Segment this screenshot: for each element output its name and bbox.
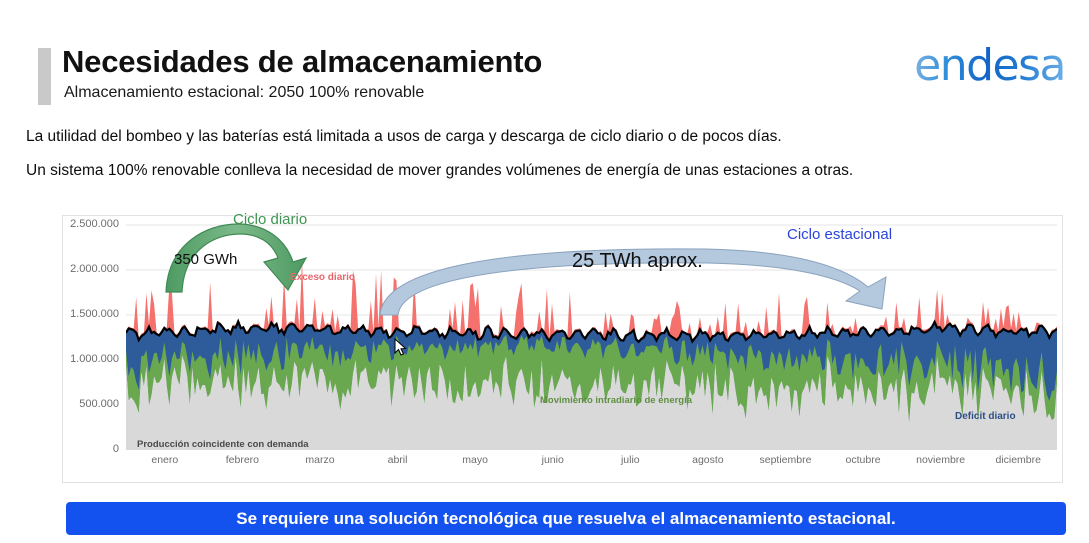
page-title: Necesidades de almacenamiento bbox=[62, 44, 542, 80]
footer-banner: Se requiere una solución tecnológica que… bbox=[66, 502, 1066, 535]
annotation-25-twh: 25 TWh aprox. bbox=[572, 250, 703, 273]
x-axis-tick: abril bbox=[388, 454, 408, 466]
annotation-ciclo-estacional: Ciclo estacional bbox=[787, 226, 892, 243]
x-axis-tick: agosto bbox=[692, 454, 724, 466]
y-axis: 0500.0001.000.0001.500.0002.000.0002.500… bbox=[63, 216, 125, 457]
x-axis-tick: junio bbox=[542, 454, 564, 466]
x-axis-tick: mayo bbox=[462, 454, 488, 466]
paragraph-seasonal-need: Un sistema 100% renovable conlleva la ne… bbox=[26, 160, 1072, 181]
series-label-exceso-diario: Exceso diario bbox=[290, 272, 355, 283]
series-label-deficit-diario: Deficit diario bbox=[955, 411, 1016, 422]
series-label-movimiento-intradiario: Movimiento intradiario de energía bbox=[540, 395, 692, 406]
x-axis-tick: septiembre bbox=[759, 454, 811, 466]
y-axis-tick: 1.500.000 bbox=[70, 308, 119, 320]
x-axis: enerofebreromarzoabrilmayojuniojulioagos… bbox=[126, 454, 1057, 478]
x-axis-tick: noviembre bbox=[916, 454, 965, 466]
y-axis-tick: 1.000.000 bbox=[70, 353, 119, 365]
x-axis-tick: julio bbox=[621, 454, 640, 466]
annotation-ciclo-diario: Ciclo diario bbox=[233, 211, 307, 228]
series-label-produccion-coincidente: Producción coincidente con demanda bbox=[137, 439, 309, 450]
y-axis-tick: 2.000.000 bbox=[70, 263, 119, 275]
slide: Necesidades de almacenamiento Almacenami… bbox=[0, 0, 1089, 543]
x-axis-tick: marzo bbox=[305, 454, 334, 466]
y-axis-tick: 0 bbox=[113, 443, 119, 455]
paragraph-storage-limits: La utilidad del bombeo y las baterías es… bbox=[26, 126, 1072, 147]
x-axis-tick: diciembre bbox=[995, 454, 1041, 466]
y-axis-tick: 500.000 bbox=[79, 398, 119, 410]
x-axis-tick: febrero bbox=[226, 454, 259, 466]
y-axis-tick: 2.500.000 bbox=[70, 218, 119, 230]
mouse-cursor-icon bbox=[394, 338, 408, 358]
x-axis-tick: enero bbox=[151, 454, 178, 466]
endesa-logo: endesa bbox=[914, 44, 1065, 88]
footer-message: Se requiere una solución tecnológica que… bbox=[236, 509, 895, 529]
title-accent-bar bbox=[38, 48, 51, 105]
x-axis-tick: octubre bbox=[846, 454, 881, 466]
page-subtitle: Almacenamiento estacional: 2050 100% ren… bbox=[64, 84, 424, 102]
annotation-350-gwh: 350 GWh bbox=[174, 251, 237, 268]
